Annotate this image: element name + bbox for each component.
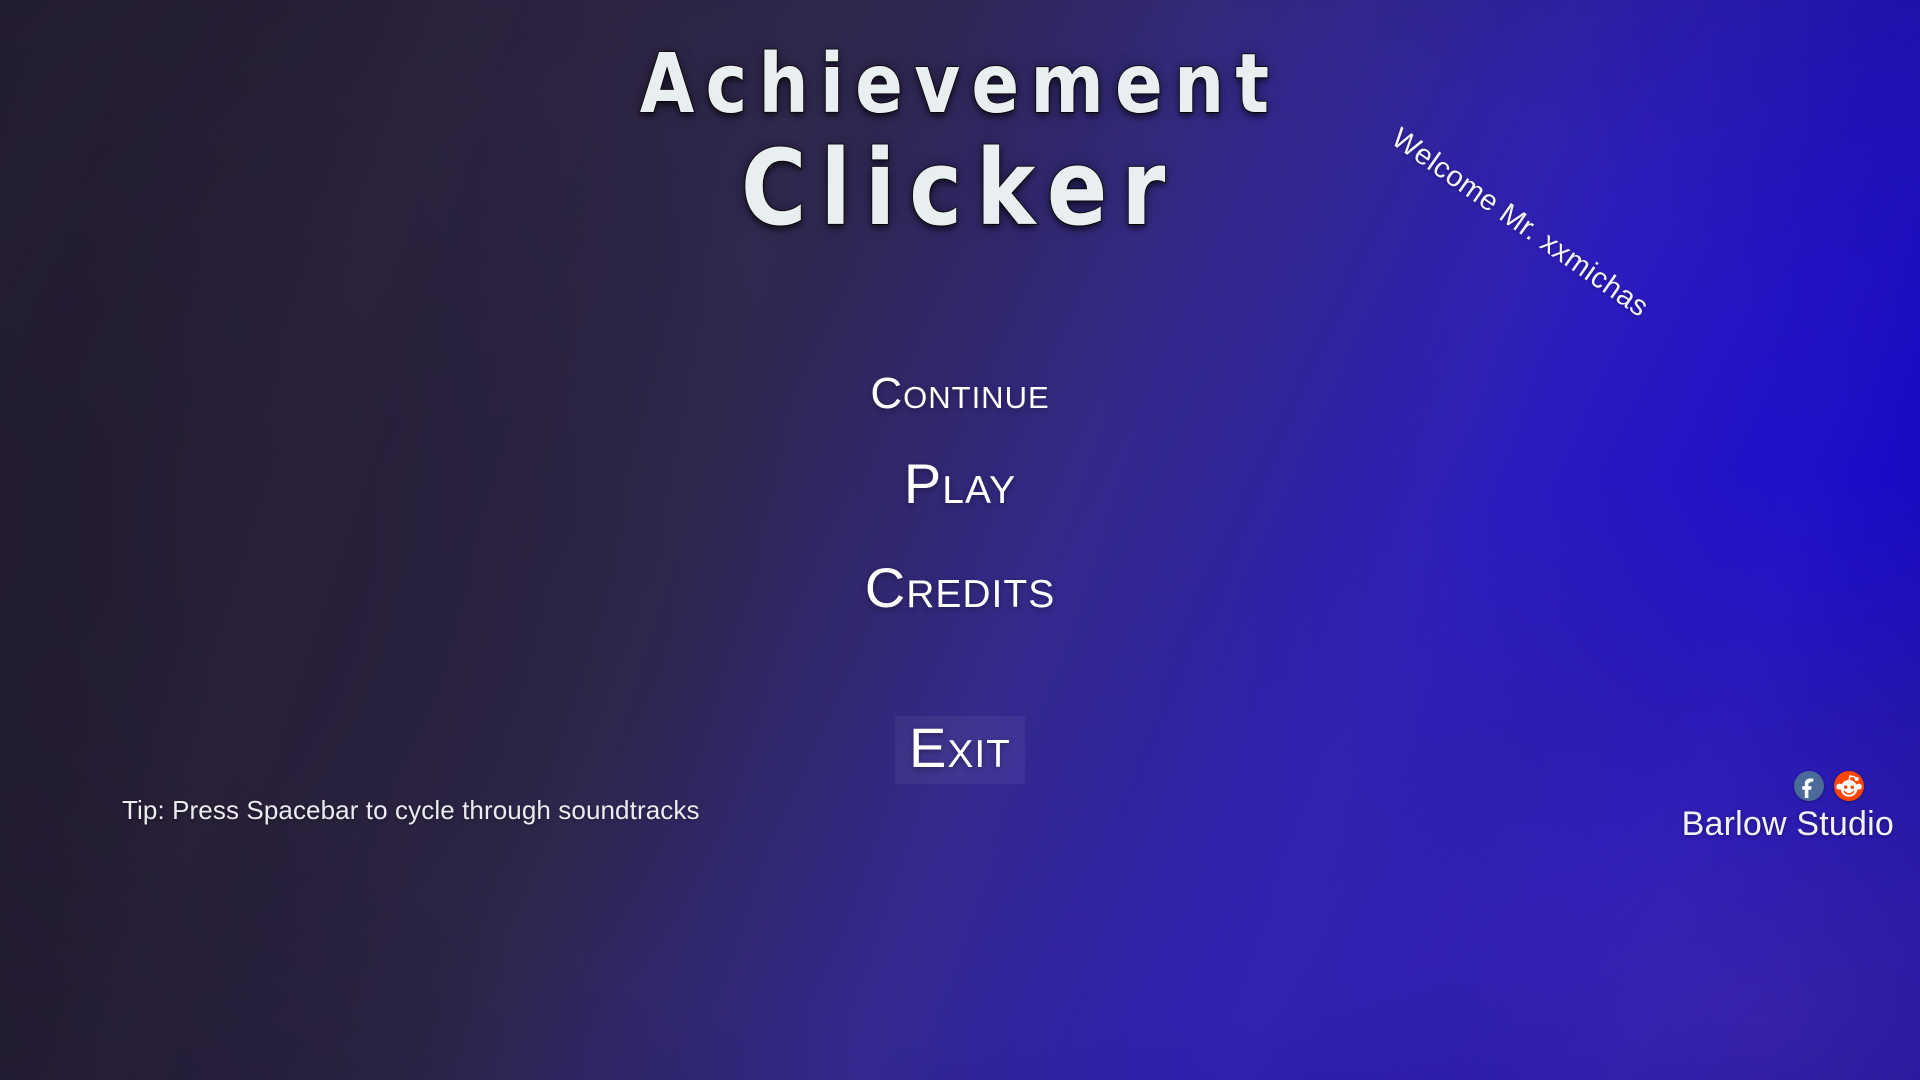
studio-footer: Barlow Studio [1682, 771, 1894, 844]
game-main-menu-screen: Achievement Clicker Welcome Mr. xxmichas… [0, 0, 1920, 1080]
menu-item-exit[interactable]: Exit [895, 716, 1025, 784]
menu-item-play[interactable]: Play [890, 452, 1030, 520]
reddit-icon[interactable] [1834, 771, 1864, 801]
facebook-icon[interactable] [1794, 771, 1824, 801]
studio-name: Barlow Studio [1682, 805, 1894, 844]
menu-item-credits[interactable]: Credits [851, 556, 1069, 624]
tip-text: Tip: Press Spacebar to cycle through sou… [122, 795, 700, 826]
social-links [1794, 771, 1864, 801]
menu-item-continue[interactable]: Continue [856, 368, 1063, 424]
main-menu: Continue Play Credits Exit [0, 368, 1920, 784]
